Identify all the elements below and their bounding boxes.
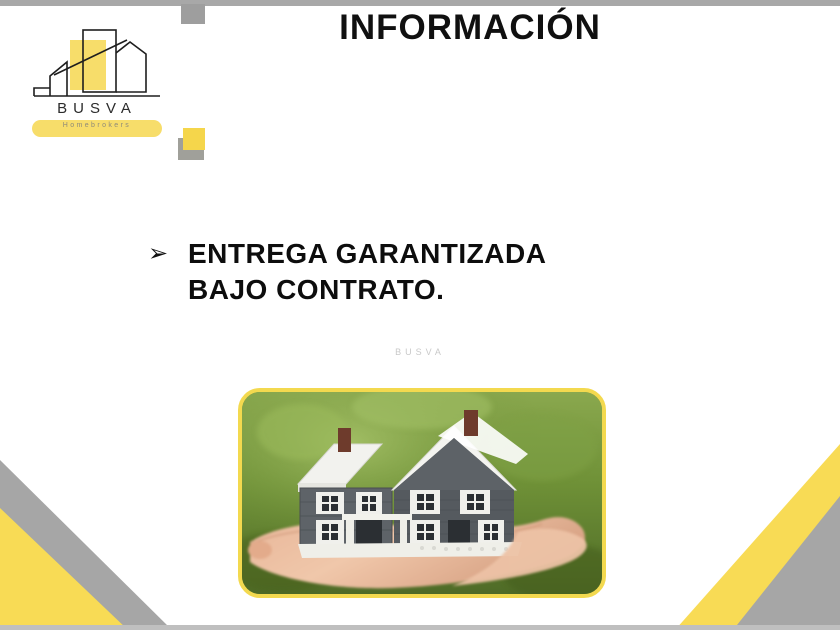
yellow-square-icon [183,128,205,150]
corner-decoration-bottom-right [655,434,840,630]
watermark-text: BUSVA [320,347,520,357]
slide-canvas: BUSVA Homebrokers INFORMACIÓN ➢ ENTREGA … [0,0,840,630]
bottom-rule-divider [0,625,840,630]
top-rule-divider [0,0,840,6]
house-in-hand-photo [238,388,606,598]
bullet-text-line-2: BAJO CONTRATO. [188,272,708,308]
bullet-list-item: ➢ ENTREGA GARANTIZADA BAJO CONTRATO. [148,236,708,308]
corner-decoration-bottom-left [0,440,172,630]
bullet-text-line-1: ENTREGA GARANTIZADA [188,236,708,272]
arrow-bullet-icon: ➢ [148,236,188,270]
busva-logo: BUSVA Homebrokers [22,18,172,138]
gray-square-decoration [181,4,205,24]
logo-tagline: Homebrokers [32,122,162,129]
logo-wordmark: BUSVA [22,100,172,117]
building-outline-icon [22,18,172,104]
page-title: INFORMACIÓN [230,8,710,48]
bullet-text: ENTREGA GARANTIZADA BAJO CONTRATO. [188,236,708,308]
square-pair-decoration [178,128,210,160]
